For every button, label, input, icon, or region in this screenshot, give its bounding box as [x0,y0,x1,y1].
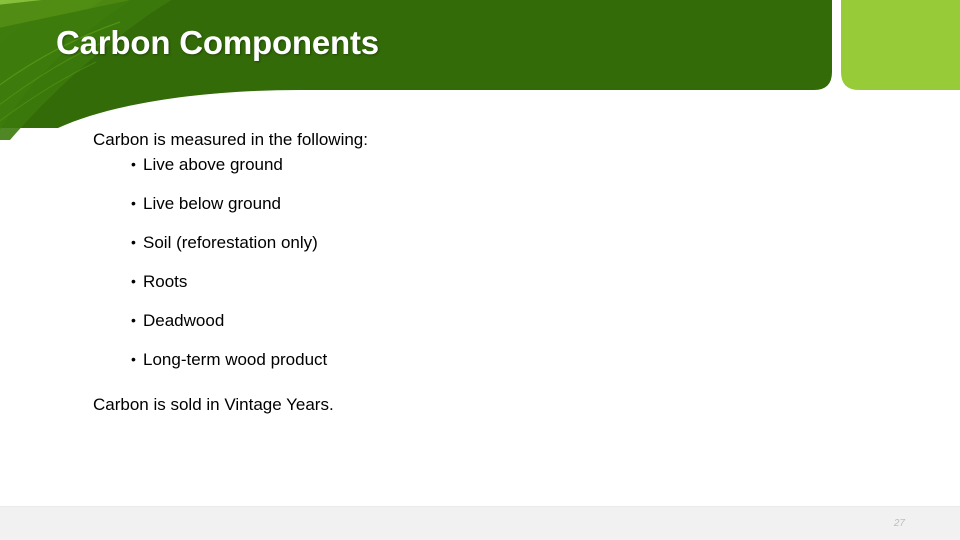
page-number: 27 [894,518,905,529]
slide: Carbon Components Carbon is measured in … [0,0,960,540]
list-item: Soil (reforestation only) [131,233,733,253]
footer-bar: 27 [0,506,960,540]
list-item: Live above ground [131,155,733,175]
list-item: Deadwood [131,311,733,331]
list-item-label: Roots [143,272,187,291]
list-item: Long-term wood product [131,350,733,370]
list-item-label: Long-term wood product [143,350,327,369]
list-item-label: Live below ground [143,194,281,213]
list-item-label: Live above ground [143,155,283,174]
header-accent-block [841,0,960,90]
list-item-label: Deadwood [143,311,224,330]
footer-divider [0,506,960,507]
page-title: Carbon Components [56,24,379,62]
list-item: Roots [131,272,733,292]
closing-line: Carbon is sold in Vintage Years. [93,394,733,416]
slide-body: Carbon is measured in the following: Liv… [93,129,733,416]
carbon-components-list: Live above ground Live below ground Soil… [93,155,733,370]
lead-line: Carbon is measured in the following: [93,129,733,151]
list-item-label: Soil (reforestation only) [143,233,318,252]
header-decoration [0,0,960,140]
list-item: Live below ground [131,194,733,214]
